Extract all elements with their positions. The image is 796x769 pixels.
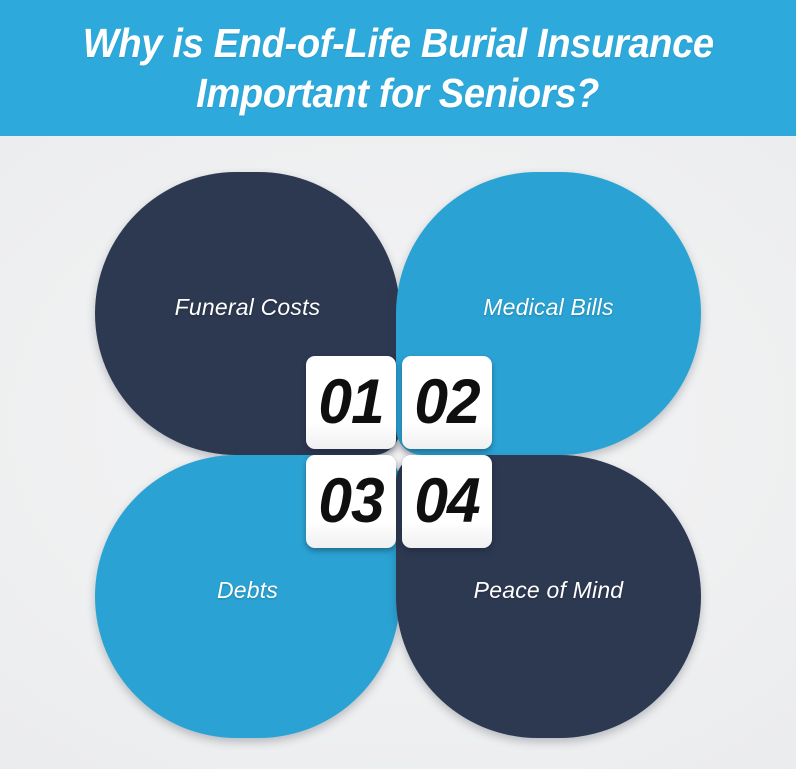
number-badge-01[interactable]: 01 <box>306 356 396 449</box>
number-badge-04-text: 04 <box>414 470 479 533</box>
number-badge-03-text: 03 <box>318 470 383 533</box>
infographic-page: Why is End-of-Life Burial Insurance Impo… <box>0 0 796 769</box>
center-number-grid: 01 02 03 04 <box>306 356 492 548</box>
petal-label-funeral-costs: Funeral Costs <box>175 294 321 321</box>
header-band: Why is End-of-Life Burial Insurance Impo… <box>0 0 796 136</box>
number-badge-01-text: 01 <box>318 371 383 434</box>
page-title-line-1: Why is End-of-Life Burial Insurance <box>82 18 713 68</box>
page-title-line-2: Important for Seniors? <box>197 68 600 118</box>
petal-label-peace-of-mind: Peace of Mind <box>474 577 624 604</box>
petal-label-debts: Debts <box>217 577 278 604</box>
number-badge-02-text: 02 <box>414 371 479 434</box>
number-badge-03[interactable]: 03 <box>306 455 396 548</box>
number-badge-02[interactable]: 02 <box>402 356 492 449</box>
petal-label-medical-bills: Medical Bills <box>483 294 613 321</box>
number-badge-04[interactable]: 04 <box>402 455 492 548</box>
